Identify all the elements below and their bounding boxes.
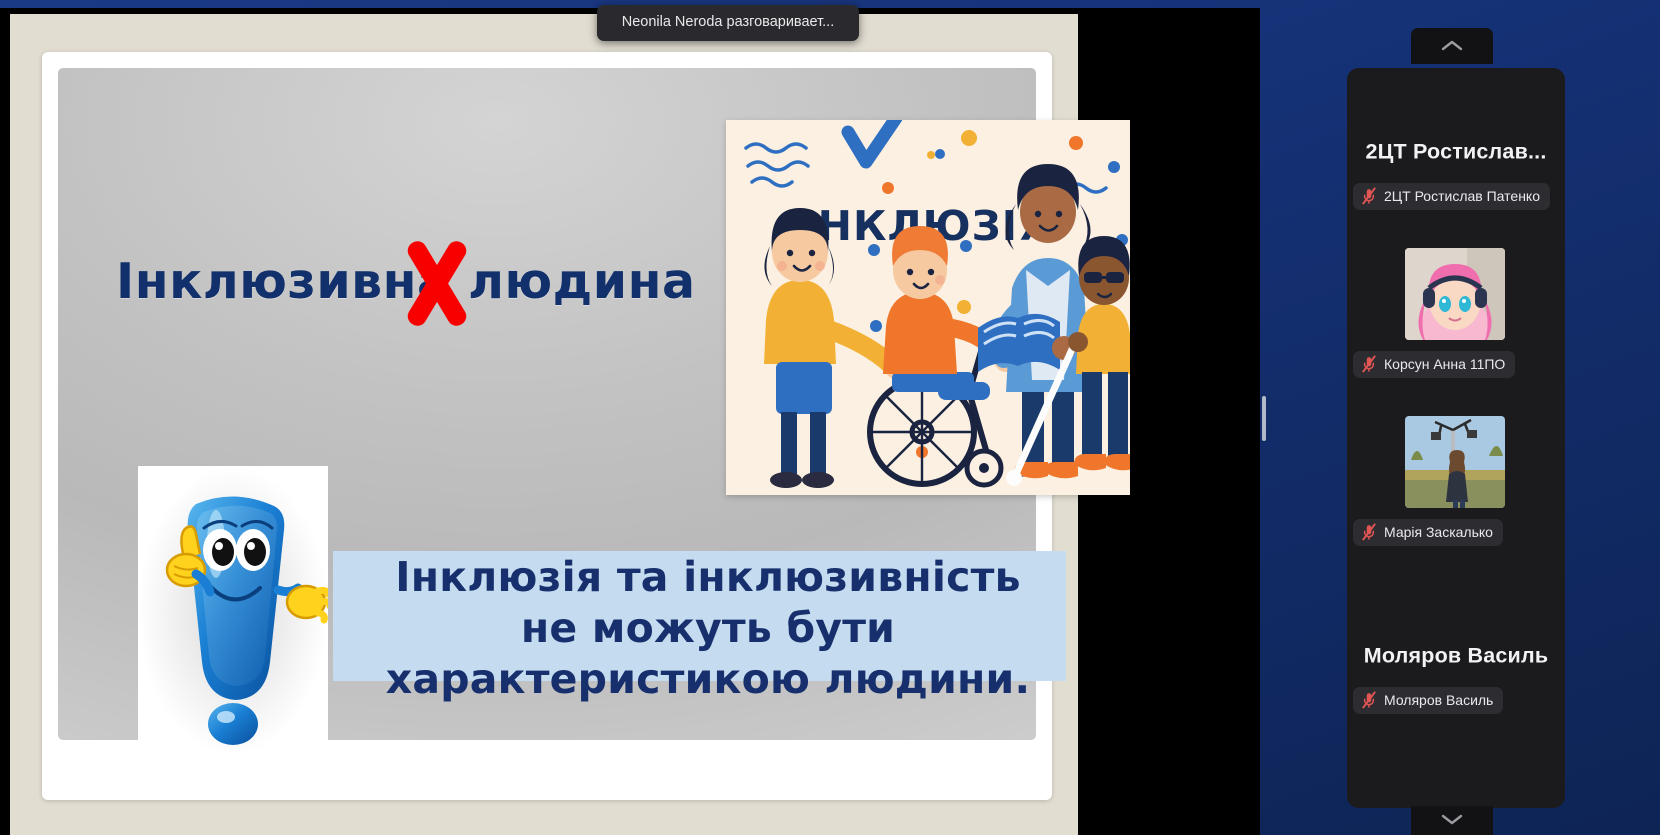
slide-frame: Інклюзивна людина [10, 14, 1078, 835]
mic-off-icon [1361, 187, 1377, 205]
participant-nameplate: Моляров Василь [1353, 687, 1503, 714]
participant-name: 2ЦТ Ростислав Патенко [1384, 188, 1540, 204]
inclusion-illustration: ІНКЛЮЗІЯ [726, 120, 1130, 495]
mic-off-icon [1361, 355, 1377, 373]
participant-video-thumbnail [1405, 416, 1505, 508]
chevron-up-icon [1439, 38, 1465, 54]
participant-nameplate: Корсун Анна 11ПО [1353, 351, 1515, 378]
chevron-down-icon [1439, 811, 1465, 827]
quote-line-3: характеристикою людини. [358, 654, 1058, 705]
participant-video-thumbnail [1405, 248, 1505, 340]
slide-content-area: Інклюзивна людина [58, 68, 1036, 740]
participant-nameplate: Марія Заскалько [1353, 519, 1503, 546]
participant-display-name-large: Моляров Василь [1347, 644, 1565, 669]
participant-tile[interactable]: Балуєва Єлиза...Балуєва Єлизавета [1347, 740, 1565, 808]
participant-display-name-large: 2ЦТ Ростислав... [1347, 140, 1565, 165]
speaking-tooltip: Neonila Neroda разговаривает... [597, 5, 859, 41]
participants-filmstrip[interactable]: 2ЦТ Ростислав...2ЦТ Ростислав ПатенкоКор… [1347, 68, 1565, 808]
participant-tile[interactable]: Моляров ВасильМоляров Василь [1347, 572, 1565, 740]
slide-page[interactable]: Інклюзивна людина [42, 52, 1052, 800]
slide-title-group: Інклюзивна людина [116, 246, 736, 326]
participant-name: Моляров Василь [1384, 692, 1493, 708]
quote-text: Інклюзія та інклюзивність не можуть бути… [358, 552, 1058, 705]
panel-drag-handle[interactable] [1262, 396, 1266, 441]
participant-nameplate: 2ЦТ Ростислав Патенко [1353, 183, 1550, 210]
collapse-filmstrip-button[interactable] [1411, 28, 1493, 64]
exclamation-mascot-image [138, 466, 328, 756]
participant-name: Марія Заскалько [1384, 524, 1493, 540]
page-title: Інклюзивна людина [116, 246, 736, 318]
participant-tile[interactable]: Марія Заскалько [1347, 404, 1565, 572]
expand-filmstrip-button[interactable] [1411, 806, 1493, 835]
quote-line-2: не можуть бути [358, 603, 1058, 654]
participant-tile[interactable]: Корсун Анна 11ПО [1347, 236, 1565, 404]
mic-off-icon [1361, 523, 1377, 541]
quote-line-1: Інклюзія та інклюзивність [358, 552, 1058, 603]
participant-name: Корсун Анна 11ПО [1384, 356, 1505, 372]
participant-tile[interactable]: 2ЦТ Ростислав...2ЦТ Ростислав Патенко [1347, 68, 1565, 236]
mic-off-icon [1361, 691, 1377, 709]
screen-root: Інклюзивна людина [0, 0, 1660, 835]
